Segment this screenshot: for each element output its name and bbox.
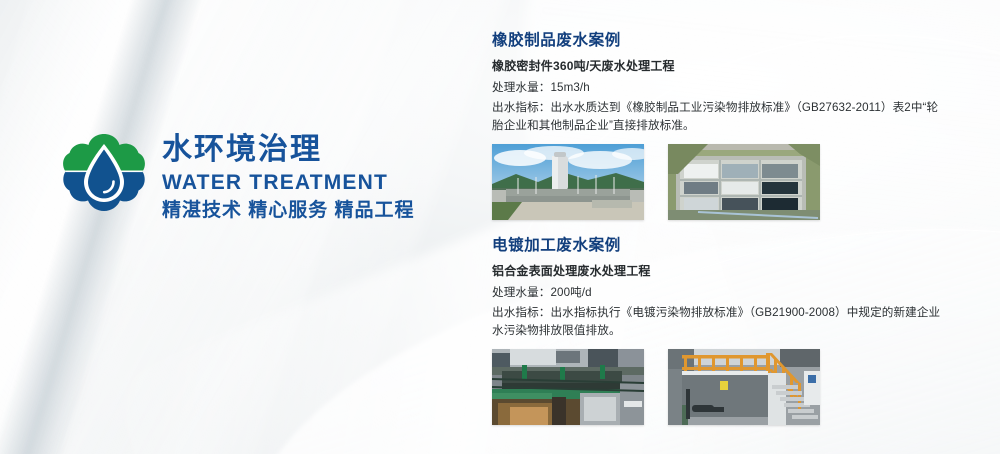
case-thumbnails: [492, 144, 962, 220]
decorative-swoosh-2: [0, 0, 231, 454]
decorative-swoosh-3: [0, 0, 267, 454]
decorative-swoosh-4: [0, 0, 573, 454]
case-block-rubber: 橡胶制品废水案例 橡胶密封件360吨/天废水处理工程 处理水量：15m3/h 出…: [492, 28, 962, 220]
brand-block: 水环境治理 WATER TREATMENT 精湛技术 精心服务 精品工程: [62, 132, 415, 222]
brand-slogan: 精湛技术 精心服务 精品工程: [162, 201, 415, 220]
case-block-electroplating: 电镀加工废水案例 铝合金表面处理废水处理工程 处理水量：200吨/d 出水指标：…: [492, 233, 962, 425]
case-subtitle: 铝合金表面处理废水处理工程: [492, 262, 962, 279]
case-thumbnails: [492, 349, 962, 425]
thumb-indoor-plating-tanks[interactable]: [492, 349, 644, 425]
thumb-silo-tank-plant[interactable]: [492, 144, 644, 220]
case-capacity: 处理水量：200吨/d: [492, 284, 962, 302]
thumb-aerial-basins[interactable]: [668, 144, 820, 220]
banner-root: 水环境治理 WATER TREATMENT 精湛技术 精心服务 精品工程 橡胶制…: [0, 0, 1000, 454]
case-standard: 出水指标：出水指标执行《电镀污染物排放标准》（GB21900-2008）中规定的…: [492, 304, 944, 340]
brand-text: 水环境治理 WATER TREATMENT 精湛技术 精心服务 精品工程: [162, 135, 415, 220]
case-title: 橡胶制品废水案例: [492, 28, 962, 50]
case-list: 橡胶制品废水案例 橡胶密封件360吨/天废水处理工程 处理水量：15m3/h 出…: [492, 28, 962, 425]
brand-title-cn: 水环境治理: [162, 135, 415, 165]
lotus-water-drop-logo-icon: [62, 132, 146, 222]
decorative-swoosh-1: [0, 0, 426, 454]
case-capacity: 处理水量：15m3/h: [492, 79, 962, 97]
case-standard: 出水指标：出水水质达到《橡胶制品工业污染物排放标准》（GB27632-2011）…: [492, 99, 944, 135]
case-subtitle: 橡胶密封件360吨/天废水处理工程: [492, 57, 962, 74]
case-title: 电镀加工废水案例: [492, 233, 962, 255]
brand-title-en: WATER TREATMENT: [162, 172, 415, 193]
thumb-tank-platform-stairs[interactable]: [668, 349, 820, 425]
